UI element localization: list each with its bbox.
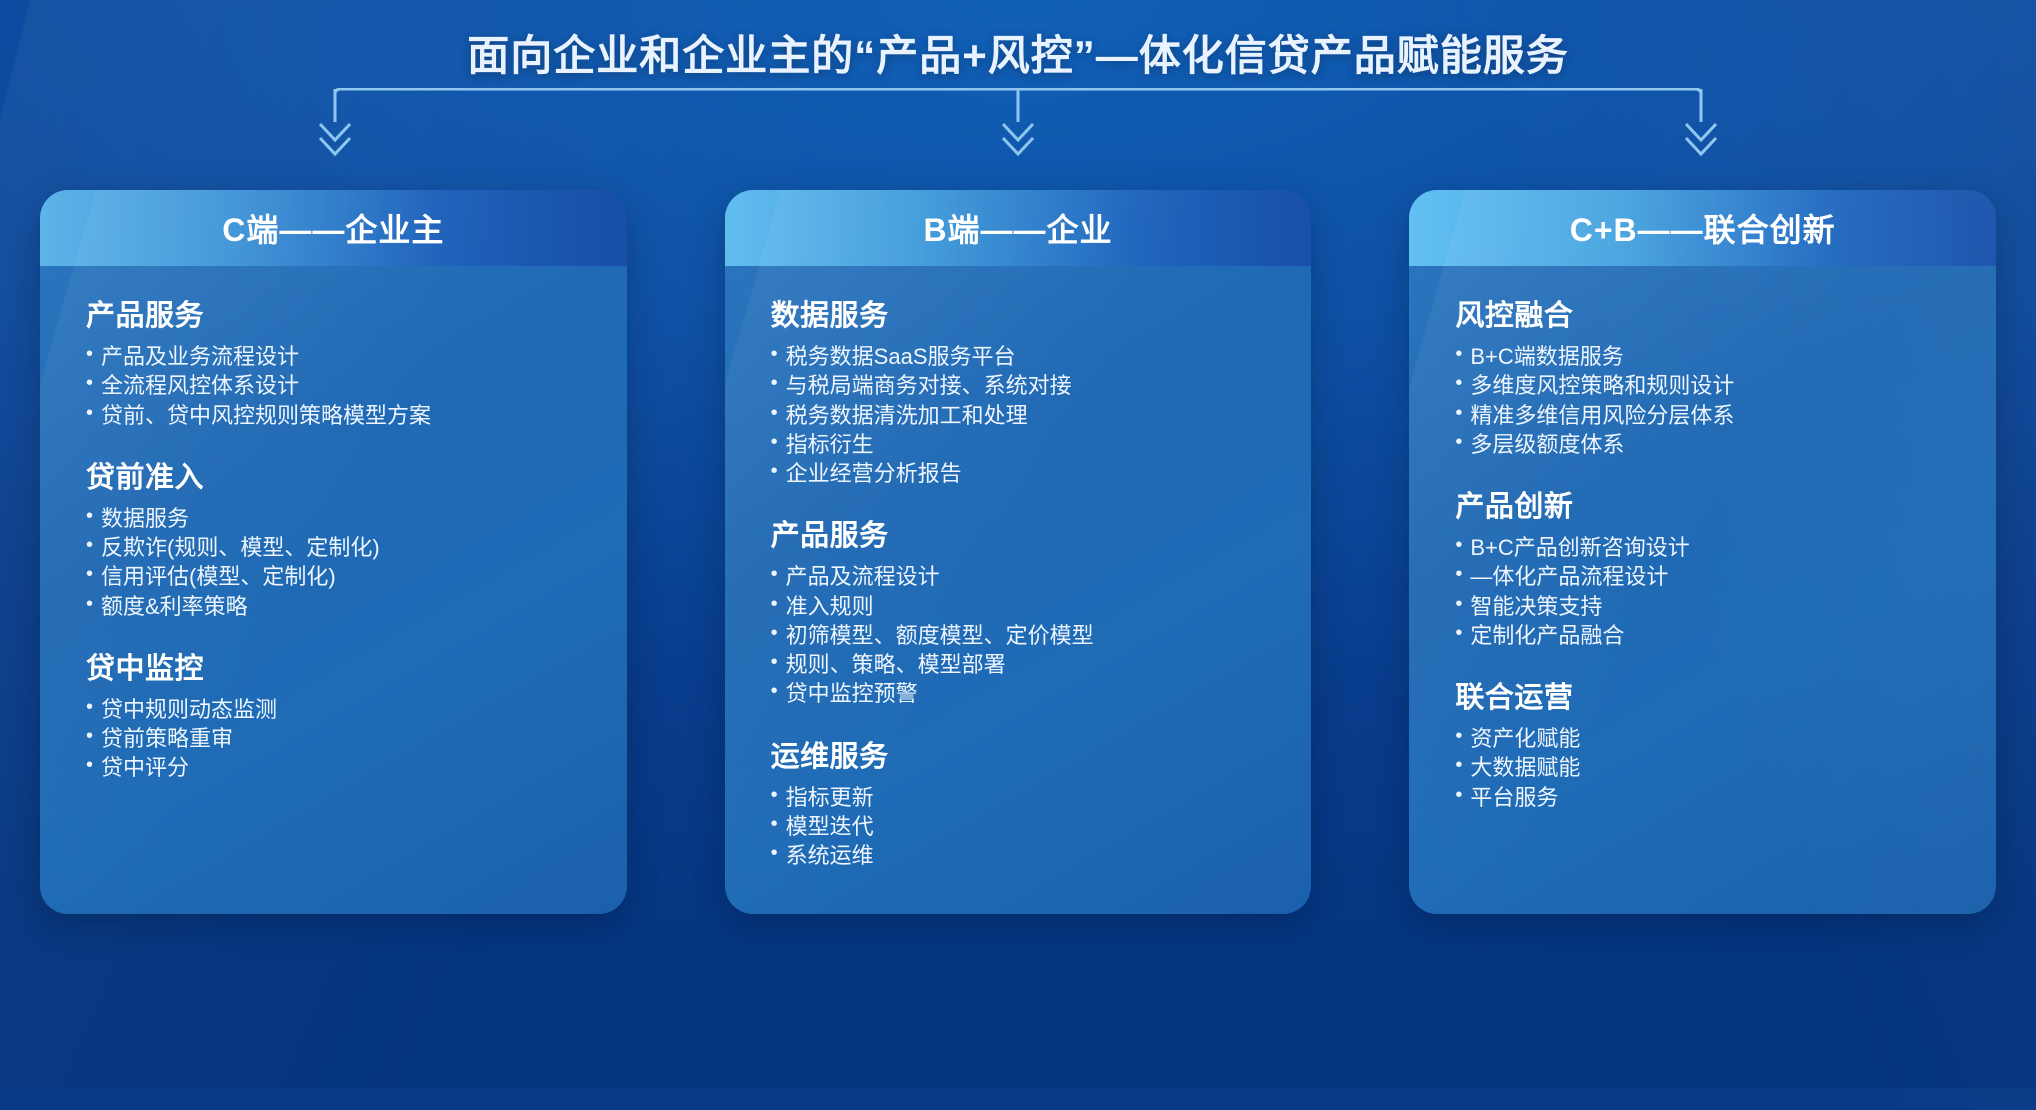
list-item: 指标衍生	[771, 430, 1266, 459]
slide-canvas: 面向企业和企业主的“产品+风控”—体化信贷产品赋能服务 C端——企业主 产品服务	[0, 0, 2036, 1110]
list-item: 贷前、贷中风控规则策略模型方案	[86, 401, 581, 430]
card-b-end[interactable]: B端——企业 数据服务 税务数据SaaS服务平台 与税局端商务对接、系统对接 税…	[725, 190, 1312, 914]
section-pre-loan-admission: 贷前准入 数据服务 反欺诈(规则、模型、定制化) 信用评估(模型、定制化) 额度…	[86, 454, 581, 621]
section-risk-fusion: 风控融合 B+C端数据服务 多维度风控策略和规则设计 精准多维信用风险分层体系 …	[1455, 292, 1950, 459]
section-title: 运维服务	[771, 733, 1266, 775]
card-header-b-end: B端——企业	[725, 190, 1312, 266]
section-title: 联合运营	[1455, 674, 1950, 716]
list-item: 反欺诈(规则、模型、定制化)	[86, 533, 581, 562]
list-item: 贷前策略重审	[86, 724, 581, 753]
list-item: 定制化产品融合	[1455, 621, 1950, 650]
list-item: 模型迭代	[771, 812, 1266, 841]
bullet-list: 产品及业务流程设计 全流程风控体系设计 贷前、贷中风控规则策略模型方案	[86, 342, 581, 430]
card-c-end[interactable]: C端——企业主 产品服务 产品及业务流程设计 全流程风控体系设计 贷前、贷中风控…	[40, 190, 627, 914]
list-item: 产品及流程设计	[771, 562, 1266, 591]
list-item: B+C产品创新咨询设计	[1455, 533, 1950, 562]
section-title: 数据服务	[771, 292, 1266, 334]
list-item: 智能决策支持	[1455, 592, 1950, 621]
bullet-list: 数据服务 反欺诈(规则、模型、定制化) 信用评估(模型、定制化) 额度&利率策略	[86, 504, 581, 621]
section-title: 贷前准入	[86, 454, 581, 496]
connector-bracket	[0, 88, 2036, 166]
card-body-b-end: 数据服务 税务数据SaaS服务平台 与税局端商务对接、系统对接 税务数据清洗加工…	[725, 266, 1312, 914]
section-product-service: 产品服务 产品及业务流程设计 全流程风控体系设计 贷前、贷中风控规则策略模型方案	[86, 292, 581, 430]
card-row: C端——企业主 产品服务 产品及业务流程设计 全流程风控体系设计 贷前、贷中风控…	[40, 190, 1996, 914]
list-item: 指标更新	[771, 783, 1266, 812]
card-header-cb-joint: C+B——联合创新	[1409, 190, 1996, 266]
section-title: 产品服务	[771, 512, 1266, 554]
list-item: 精准多维信用风险分层体系	[1455, 401, 1950, 430]
list-item: 信用评估(模型、定制化)	[86, 562, 581, 591]
list-item: 与税局端商务对接、系统对接	[771, 371, 1266, 400]
section-title: 产品服务	[86, 292, 581, 334]
bullet-list: 税务数据SaaS服务平台 与税局端商务对接、系统对接 税务数据清洗加工和处理 指…	[771, 342, 1266, 488]
card-cb-joint-innovation[interactable]: C+B——联合创新 风控融合 B+C端数据服务 多维度风控策略和规则设计 精准多…	[1409, 190, 1996, 914]
list-item: 大数据赋能	[1455, 753, 1950, 782]
list-item: 税务数据清洗加工和处理	[771, 401, 1266, 430]
list-item: 多层级额度体系	[1455, 430, 1950, 459]
section-title: 贷中监控	[86, 645, 581, 687]
section-ops-service: 运维服务 指标更新 模型迭代 系统运维	[771, 733, 1266, 871]
list-item: 全流程风控体系设计	[86, 371, 581, 400]
section-title: 产品创新	[1455, 483, 1950, 525]
list-item: 额度&利率策略	[86, 592, 581, 621]
list-item: 系统运维	[771, 841, 1266, 870]
bullet-list: 产品及流程设计 准入规则 初筛模型、额度模型、定价模型 规则、策略、模型部署 贷…	[771, 562, 1266, 708]
list-item: 平台服务	[1455, 783, 1950, 812]
section-product-innovation: 产品创新 B+C产品创新咨询设计 —体化产品流程设计 智能决策支持 定制化产品融…	[1455, 483, 1950, 650]
card-body-c-end: 产品服务 产品及业务流程设计 全流程风控体系设计 贷前、贷中风控规则策略模型方案…	[40, 266, 627, 914]
list-item: 数据服务	[86, 504, 581, 533]
bullet-list: B+C产品创新咨询设计 —体化产品流程设计 智能决策支持 定制化产品融合	[1455, 533, 1950, 650]
bullet-list: 指标更新 模型迭代 系统运维	[771, 783, 1266, 871]
page-title: 面向企业和企业主的“产品+风控”—体化信贷产品赋能服务	[0, 22, 2036, 83]
bullet-list: 贷中规则动态监测 贷前策略重审 贷中评分	[86, 695, 581, 783]
bullet-list: B+C端数据服务 多维度风控策略和规则设计 精准多维信用风险分层体系 多层级额度…	[1455, 342, 1950, 459]
section-data-service: 数据服务 税务数据SaaS服务平台 与税局端商务对接、系统对接 税务数据清洗加工…	[771, 292, 1266, 488]
list-item: —体化产品流程设计	[1455, 562, 1950, 591]
card-body-cb-joint: 风控融合 B+C端数据服务 多维度风控策略和规则设计 精准多维信用风险分层体系 …	[1409, 266, 1996, 914]
bottom-band	[0, 1088, 2036, 1110]
list-item: 准入规则	[771, 592, 1266, 621]
section-product-service: 产品服务 产品及流程设计 准入规则 初筛模型、额度模型、定价模型 规则、策略、模…	[771, 512, 1266, 708]
section-in-loan-monitoring: 贷中监控 贷中规则动态监测 贷前策略重审 贷中评分	[86, 645, 581, 783]
list-item: 税务数据SaaS服务平台	[771, 342, 1266, 371]
bullet-list: 资产化赋能 大数据赋能 平台服务	[1455, 724, 1950, 812]
list-item: 贷中评分	[86, 753, 581, 782]
list-item: 贷中规则动态监测	[86, 695, 581, 724]
list-item: B+C端数据服务	[1455, 342, 1950, 371]
list-item: 规则、策略、模型部署	[771, 650, 1266, 679]
list-item: 初筛模型、额度模型、定价模型	[771, 621, 1266, 650]
card-header-c-end: C端——企业主	[40, 190, 627, 266]
section-title: 风控融合	[1455, 292, 1950, 334]
section-joint-operation: 联合运营 资产化赋能 大数据赋能 平台服务	[1455, 674, 1950, 812]
list-item: 多维度风控策略和规则设计	[1455, 371, 1950, 400]
list-item: 企业经营分析报告	[771, 459, 1266, 488]
list-item: 产品及业务流程设计	[86, 342, 581, 371]
list-item: 资产化赋能	[1455, 724, 1950, 753]
list-item: 贷中监控预警	[771, 679, 1266, 708]
